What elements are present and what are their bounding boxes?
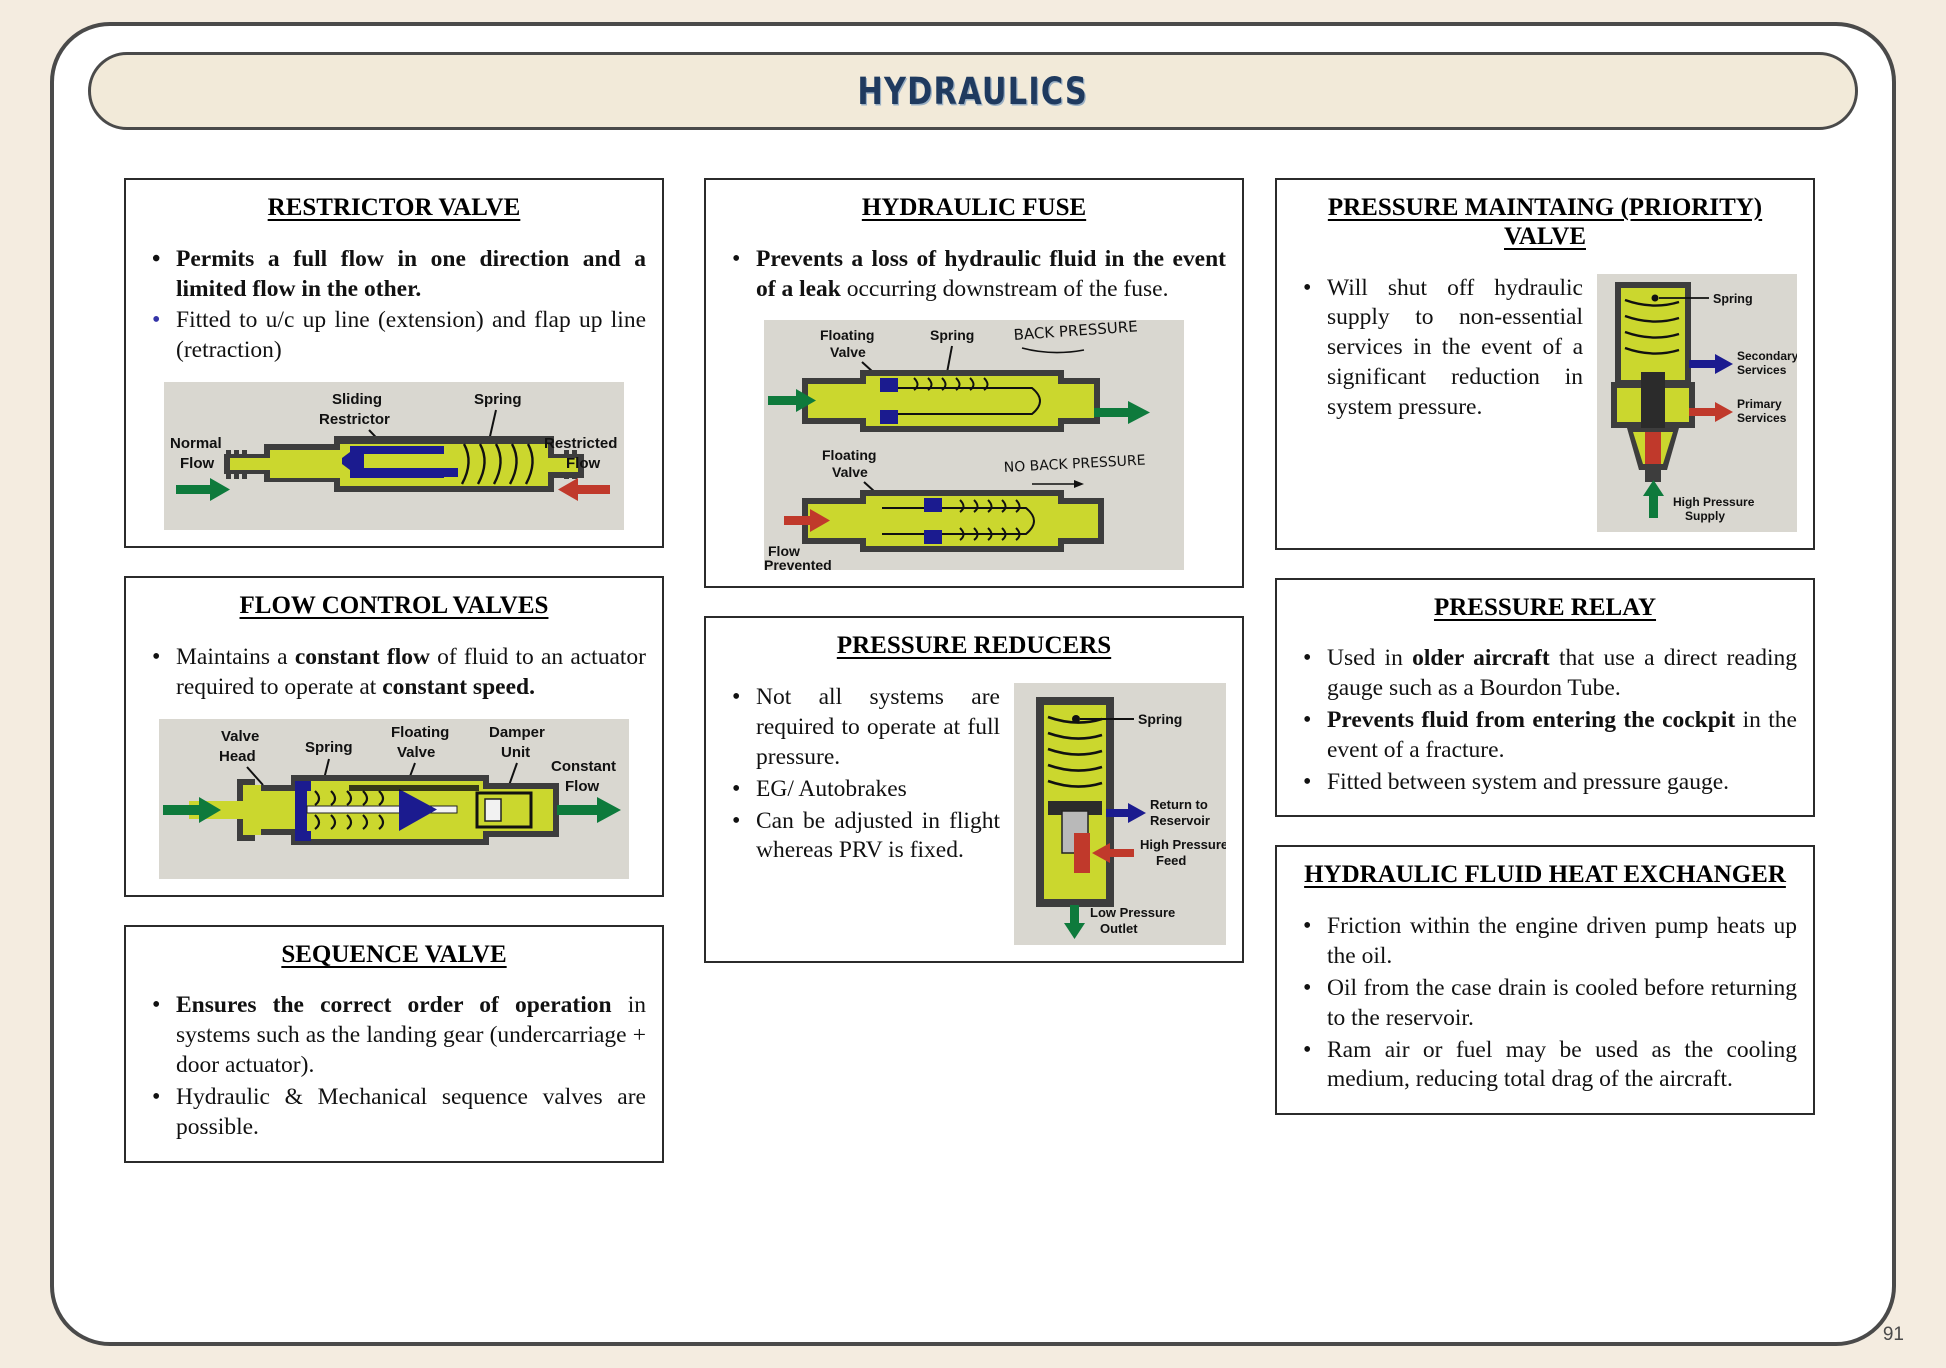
- card-pressure-reducers: PRESSURE REDUCERS Not all systems are re…: [704, 616, 1244, 963]
- bullet-list-heat-exchanger: Friction within the engine driven pump h…: [1293, 912, 1797, 1095]
- label-flow-normal: Flow: [180, 455, 214, 472]
- label-restricted: Restricted: [544, 435, 617, 452]
- card-title-sequence-valve: SEQUENCE VALVE: [142, 941, 646, 970]
- label-floating-valve: Valve: [830, 344, 866, 360]
- label-floating-2: Floating: [822, 447, 876, 463]
- list-item: Used in older aircraft that use a direct…: [1293, 644, 1797, 704]
- list-item: Not all systems are required to operate …: [722, 683, 1000, 773]
- label-primary-2: Services: [1737, 411, 1787, 425]
- pressure-maintaining-text: Will shut off hydraulic supply to non-es…: [1293, 274, 1583, 425]
- label-restrictor: Restrictor: [319, 411, 390, 428]
- label-valve: Valve: [221, 728, 259, 745]
- bullet-list-pressure-relay: Used in older aircraft that use a direct…: [1293, 644, 1797, 797]
- label-floating: Floating: [820, 327, 874, 343]
- list-item: Maintains a constant flow of fluid to an…: [142, 643, 646, 703]
- label-spring: Spring: [305, 739, 353, 756]
- pressure-maintaining-valve-svg: Spring Secondary Services: [1597, 274, 1797, 532]
- list-item: Oil from the case drain is cooled before…: [1293, 974, 1797, 1034]
- figure-hydraulic-fuse-wrap: Floating Valve Spring Flow BACK PRESSURE: [722, 320, 1226, 570]
- list-item: Friction within the engine driven pump h…: [1293, 912, 1797, 972]
- pressure-reducer-diagram: Spring Return to Reservoir: [1014, 683, 1226, 945]
- bullet-list-sequence-valve: Ensures the correct order of operation i…: [142, 991, 646, 1142]
- title-banner: HYDRAULICS: [88, 52, 1858, 130]
- page-title: HYDRAULICS: [858, 70, 1089, 113]
- label-constant-flow: Flow: [565, 778, 599, 795]
- bullet-list-flow-control-valves: Maintains a constant flow of fluid to an…: [142, 643, 646, 703]
- column-right: PRESSURE MAINTAING (PRIORITY) VALVE Will…: [1275, 178, 1815, 1143]
- label-low-pressure-2: Outlet: [1100, 921, 1138, 936]
- card-pressure-maintaining-valve: PRESSURE MAINTAING (PRIORITY) VALVE Will…: [1275, 178, 1815, 550]
- list-item: Can be adjusted in flight whereas PRV is…: [722, 807, 1000, 867]
- pressure-maintaining-valve-diagram: Spring Secondary Services: [1597, 274, 1797, 532]
- label-floating-valve: Valve: [397, 744, 435, 761]
- label-floating-valve-2: Valve: [832, 464, 868, 480]
- pressure-maintaining-row: Will shut off hydraulic supply to non-es…: [1293, 274, 1797, 532]
- pressure-reducers-row: Not all systems are required to operate …: [722, 683, 1226, 945]
- list-item: Ram air or fuel may be used as the cooli…: [1293, 1036, 1797, 1096]
- label-spring: Spring: [474, 391, 522, 408]
- label-low-pressure-1: Low Pressure: [1090, 905, 1175, 920]
- label-damper: Damper: [489, 724, 545, 741]
- card-sequence-valve: SEQUENCE VALVE Ensures the correct order…: [124, 925, 664, 1163]
- restrictor-valve-diagram: Sliding Restrictor Spring: [164, 382, 624, 530]
- card-title-pressure-relay: PRESSURE RELAY: [1293, 594, 1797, 623]
- list-item: Fitted between system and pressure gauge…: [1293, 768, 1797, 798]
- label-unit: Unit: [501, 744, 530, 761]
- list-item: Permits a full flow in one direction and…: [142, 245, 646, 305]
- pressure-reducers-text: Not all systems are required to operate …: [722, 683, 1000, 868]
- card-flow-control-valves: FLOW CONTROL VALVES Maintains a constant…: [124, 576, 664, 896]
- card-restrictor-valve: RESTRICTOR VALVE Permits a full flow in …: [124, 178, 664, 548]
- label-secondary-2: Services: [1737, 363, 1787, 377]
- label-high-pressure-supply-1: High Pressure: [1673, 495, 1755, 509]
- card-title-hydraulic-fuse: HYDRAULIC FUSE: [722, 194, 1226, 223]
- label-primary-1: Primary: [1737, 397, 1782, 411]
- list-item: Prevents a loss of hydraulic fluid in th…: [722, 245, 1226, 305]
- figure-pressure-maintaining-wrap: Spring Secondary Services: [1597, 274, 1797, 532]
- label-sliding: Sliding: [332, 391, 382, 408]
- restrictor-valve-svg: Sliding Restrictor Spring: [164, 382, 624, 530]
- label-flow-restricted: Flow: [566, 455, 600, 472]
- column-middle: HYDRAULIC FUSE Prevents a loss of hydrau…: [704, 178, 1244, 991]
- bullet-list-pressure-reducers: Not all systems are required to operate …: [722, 683, 1000, 866]
- figure-pressure-reducer-wrap: Spring Return to Reservoir: [1014, 683, 1226, 945]
- bullet-list-hydraulic-fuse: Prevents a loss of hydraulic fluid in th…: [722, 245, 1226, 305]
- flow-control-valve-diagram: Valve Head Spring Floating Valve Damper …: [159, 719, 629, 879]
- list-item: Hydraulic & Mechanical sequence valves a…: [142, 1083, 646, 1143]
- list-item: Fitted to u/c up line (extension) and fl…: [142, 306, 646, 366]
- list-item: Prevents fluid from entering the cockpit…: [1293, 706, 1797, 766]
- bullet-list-restrictor-valve: Permits a full flow in one direction and…: [142, 245, 646, 366]
- flow-control-valve-svg: Valve Head Spring Floating Valve Damper …: [159, 719, 629, 879]
- label-return-2: Reservoir: [1150, 813, 1210, 828]
- pressure-reducer-svg: Spring Return to Reservoir: [1014, 683, 1226, 945]
- card-heat-exchanger: HYDRAULIC FLUID HEAT EXCHANGER Friction …: [1275, 845, 1815, 1115]
- card-hydraulic-fuse: HYDRAULIC FUSE Prevents a loss of hydrau…: [704, 178, 1244, 588]
- list-item: Will shut off hydraulic supply to non-es…: [1293, 274, 1583, 423]
- card-title-restrictor-valve: RESTRICTOR VALVE: [142, 194, 646, 223]
- figure-flow-control-wrap: Valve Head Spring Floating Valve Damper …: [142, 719, 646, 879]
- column-left: RESTRICTOR VALVE Permits a full flow in …: [124, 178, 664, 1191]
- label-return-1: Return to: [1150, 797, 1208, 812]
- figure-restrictor-valve-wrap: Sliding Restrictor Spring: [142, 382, 646, 530]
- label-high-pressure-1: High Pressure: [1140, 837, 1226, 852]
- list-item: EG/ Autobrakes: [722, 775, 1000, 805]
- label-normal: Normal: [170, 435, 222, 452]
- hydraulic-fuse-diagram: Floating Valve Spring Flow BACK PRESSURE: [764, 320, 1184, 570]
- card-title-flow-control-valves: FLOW CONTROL VALVES: [142, 592, 646, 621]
- label-head: Head: [219, 748, 256, 765]
- label-constant: Constant: [551, 758, 616, 775]
- card-title-pressure-maintaining-valve: PRESSURE MAINTAING (PRIORITY) VALVE: [1293, 194, 1797, 252]
- label-spring: Spring: [1138, 711, 1182, 727]
- list-item: Ensures the correct order of operation i…: [142, 991, 646, 1081]
- label-secondary-1: Secondary: [1737, 349, 1797, 363]
- label-floating: Floating: [391, 724, 449, 741]
- slide-root: HYDRAULICS RESTRICTOR VALVE Permits a fu…: [0, 0, 1946, 1368]
- label-spring: Spring: [930, 327, 974, 343]
- label-high-pressure-2: Feed: [1156, 853, 1186, 868]
- card-title-pressure-reducers: PRESSURE REDUCERS: [722, 632, 1226, 661]
- label-spring: Spring: [1713, 292, 1753, 306]
- label-high-pressure-supply-2: Supply: [1685, 509, 1725, 523]
- card-title-heat-exchanger: HYDRAULIC FLUID HEAT EXCHANGER: [1293, 861, 1797, 890]
- label-flow-prevented-2: Prevented: [764, 557, 832, 570]
- page-number: 91: [1883, 1324, 1904, 1346]
- hydraulic-fuse-svg: Floating Valve Spring Flow BACK PRESSURE: [764, 320, 1184, 570]
- card-pressure-relay: PRESSURE RELAY Used in older aircraft th…: [1275, 578, 1815, 818]
- bullet-list-pressure-maintaining: Will shut off hydraulic supply to non-es…: [1293, 274, 1583, 423]
